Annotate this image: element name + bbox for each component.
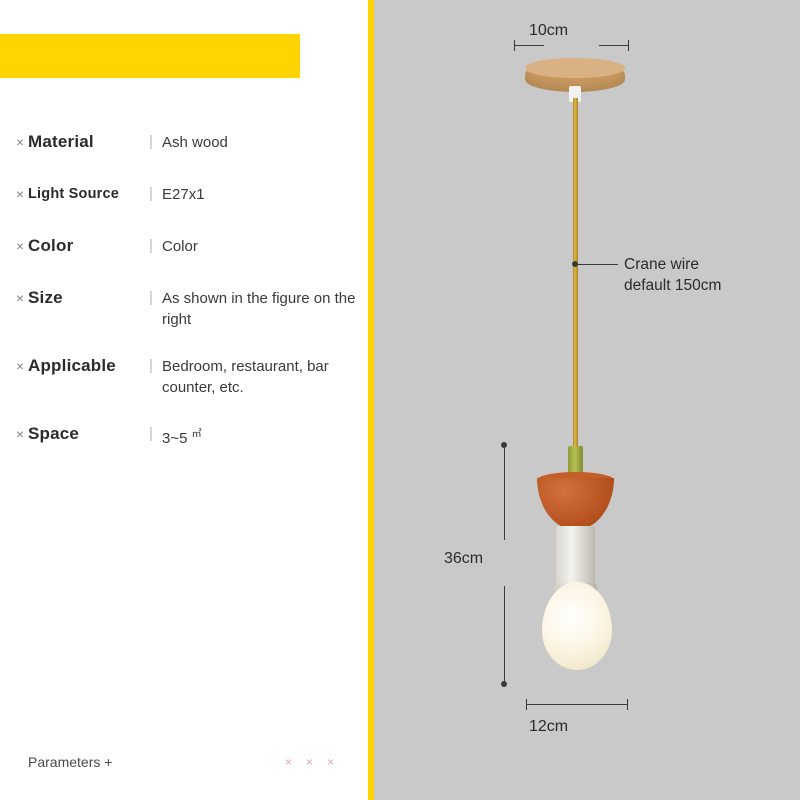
spec-separator: |: [140, 352, 162, 380]
spec-label: Color: [28, 232, 140, 260]
spec-label: Material: [28, 128, 140, 156]
accent-bar: [0, 34, 300, 78]
plus-icon: +: [104, 754, 112, 770]
spec-row: × Applicable | Bedroom, restaurant, bar …: [0, 352, 368, 398]
callout-line-1: Crane wire: [624, 254, 721, 275]
bullet-x-icon: ×: [0, 284, 28, 312]
dimension-bottom-line: [526, 704, 628, 705]
footer-marks: × × ×: [285, 755, 348, 769]
dimension-top-tick-left: [514, 40, 515, 51]
dimension-top-line-left: [514, 45, 544, 46]
bullet-x-icon: ×: [0, 352, 28, 380]
dimension-height-line-top: [504, 448, 505, 540]
x-mark-icon: ×: [306, 755, 313, 769]
spec-separator: |: [140, 128, 162, 156]
callout-line-2: default 150cm: [624, 275, 721, 296]
footer: Parameters + × × ×: [28, 754, 348, 770]
spec-value: As shown in the figure on the right: [162, 284, 368, 330]
bullet-x-icon: ×: [0, 232, 28, 260]
spec-row: × Material | Ash wood: [0, 128, 368, 158]
dimension-height-line-bottom: [504, 586, 505, 682]
spec-separator: |: [140, 232, 162, 260]
right-panel-product-diagram: 10cm Crane wire default 150cm 36cm: [374, 0, 800, 800]
dimension-bottom-tick-left: [526, 699, 527, 710]
dimension-height-label: 36cm: [444, 550, 483, 568]
ceiling-mount-plate-top: [525, 58, 625, 78]
callout-crane-wire: Crane wire default 150cm: [624, 254, 721, 296]
spec-value: Bedroom, restaurant, bar counter, etc.: [162, 352, 368, 398]
bullet-x-icon: ×: [0, 180, 28, 208]
spec-list: × Material | Ash wood × Light Source | E…: [0, 128, 368, 472]
dimension-top-tick-right: [628, 40, 629, 51]
spec-separator: |: [140, 284, 162, 312]
spec-row: × Space | 3~5 ㎡: [0, 420, 368, 450]
spec-value: Ash wood: [162, 128, 368, 153]
spec-label: Size: [28, 284, 140, 312]
spec-separator: |: [140, 180, 162, 208]
spec-value-number: 3~5: [162, 430, 187, 447]
spec-row: × Light Source | E27x1: [0, 180, 368, 210]
dimension-top-width-label: 10cm: [529, 22, 568, 40]
spec-separator: |: [140, 420, 162, 448]
dimension-height-dot-bottom: [501, 681, 507, 687]
dimension-top-line-right: [599, 45, 629, 46]
dimension-bottom-width-label: 12cm: [529, 718, 568, 736]
left-panel: × Material | Ash wood × Light Source | E…: [0, 0, 368, 800]
x-mark-icon: ×: [327, 755, 334, 769]
product-spec-page: × Material | Ash wood × Light Source | E…: [0, 0, 800, 800]
spec-value: Color: [162, 232, 368, 257]
spec-row: × Size | As shown in the figure on the r…: [0, 284, 368, 330]
light-bulb: [542, 582, 612, 670]
bullet-x-icon: ×: [0, 128, 28, 156]
wood-shade: [537, 478, 614, 530]
spec-value: E27x1: [162, 180, 368, 205]
spec-row: × Color | Color: [0, 232, 368, 262]
suspension-wire: [573, 98, 578, 450]
dimension-bottom-tick-right: [627, 699, 628, 710]
spec-value: 3~5 ㎡: [162, 420, 368, 449]
spec-label: Light Source: [28, 180, 140, 208]
spec-label: Applicable: [28, 352, 140, 380]
spec-label: Space: [28, 420, 140, 448]
bullet-x-icon: ×: [0, 420, 28, 448]
spec-value-unit: ㎡: [192, 429, 202, 440]
footer-parameters-label: Parameters +: [28, 754, 112, 770]
x-mark-icon: ×: [285, 755, 292, 769]
callout-leader-line: [578, 264, 618, 265]
